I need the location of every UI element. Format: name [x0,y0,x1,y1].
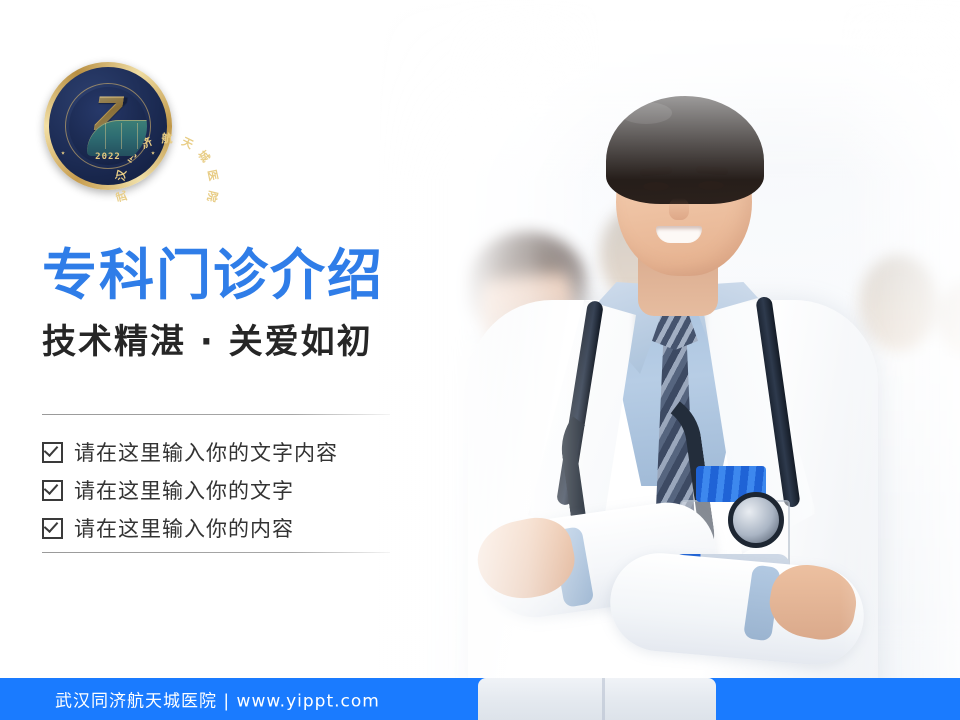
list-item: 请在这里输入你的文字 [42,471,338,509]
logo-star-icon [61,151,65,155]
checkbox-checked-icon [42,442,63,463]
page-subtitle: 技术精湛 · 关爱如初 [42,325,373,359]
bullet-list: 请在这里输入你的文字内容请在这里输入你的文字请在这里输入你的内容 [42,433,338,547]
page-title: 专科门诊介绍 [42,248,384,303]
logo-rim-char: 武 [112,189,130,204]
hero-photo [300,0,960,690]
logo-star-icon [151,151,155,155]
logo-core: Z 2022 [69,87,147,165]
logo-rim-char: 城 [194,147,213,166]
logo-dome-rib [105,123,106,149]
logo-rim-char: 汉 [112,168,130,182]
doctor-nose [669,198,689,220]
logo-rim-char: 航 [162,130,173,146]
logo-year: 2022 [95,152,121,162]
list-item-label: 请在这里输入你的内容 [74,513,294,543]
divider-top [42,414,390,415]
logo-rim-char: 院 [204,189,222,204]
foreground-doctor [300,0,960,690]
logo-rim-char: 天 [179,133,196,152]
logo-dome-rib [137,123,138,149]
list-item: 请在这里输入你的内容 [42,509,338,547]
doctor-eye-left [643,182,669,191]
list-item-label: 请在这里输入你的文字 [74,475,294,505]
divider-bottom [42,552,390,553]
logo-rim-char: 医 [204,168,222,182]
list-item: 请在这里输入你的文字内容 [42,433,338,471]
doctor-eye-right [698,181,724,190]
checkbox-checked-icon [42,480,63,501]
slide-canvas: 武汉同济航天城医院 Z 2022 专科门诊介绍 技术精湛 · 关爱如初 请在这里… [0,0,960,720]
doctor-hair [606,96,764,204]
checkbox-checked-icon [42,518,63,539]
footer-text: 武汉同济航天城医院 | www.yippt.com [55,687,380,712]
doctor-coat-over-footer [478,678,716,720]
logo-dome-rib [121,123,122,149]
stethoscope-chestpiece [728,492,784,548]
list-item-label: 请在这里输入你的文字内容 [74,437,338,467]
hospital-logo: 武汉同济航天城医院 Z 2022 [44,62,172,190]
doctor-smile [656,226,702,243]
